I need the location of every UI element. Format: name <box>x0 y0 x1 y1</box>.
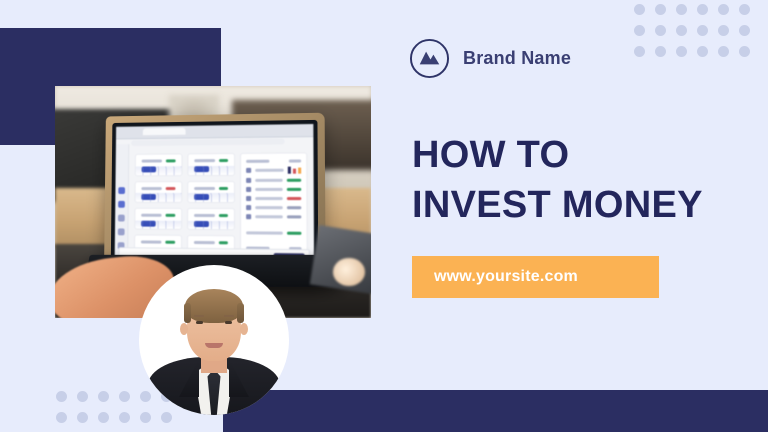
dot <box>634 46 645 57</box>
row-icon <box>247 178 252 183</box>
bar <box>293 168 296 173</box>
row-icon <box>247 196 252 201</box>
metric-card <box>135 153 182 175</box>
dot <box>739 4 750 15</box>
sparkline-chart <box>136 220 181 229</box>
avatar-ear <box>180 323 188 335</box>
dot <box>634 4 645 15</box>
metric-delta <box>166 186 175 189</box>
row-label <box>256 206 283 209</box>
dot <box>676 46 687 57</box>
metric-card-grid <box>134 153 235 258</box>
panel-divider <box>247 240 302 241</box>
total-value <box>287 231 301 234</box>
dot <box>697 25 708 36</box>
row-icon <box>247 214 252 219</box>
dot <box>119 412 130 423</box>
metric-label <box>142 213 163 216</box>
avatar-eyebrow <box>194 315 204 317</box>
metric-label <box>194 213 215 216</box>
dot <box>718 4 729 15</box>
sidebar-icon <box>119 187 126 194</box>
total-label <box>247 231 284 234</box>
panel-total-row <box>247 231 302 234</box>
dot <box>655 25 666 36</box>
avatar-ear <box>240 323 248 335</box>
metric-delta <box>219 213 228 216</box>
panel-row <box>247 196 302 201</box>
dashboard-side-panel <box>241 152 308 259</box>
panel-title <box>247 159 270 162</box>
dot <box>655 46 666 57</box>
panel-row <box>247 177 302 182</box>
dot <box>697 46 708 57</box>
dot <box>676 4 687 15</box>
metric-delta <box>219 241 228 244</box>
browser-tab <box>143 127 185 134</box>
metric-card <box>135 180 182 202</box>
panel-row <box>247 205 302 210</box>
row-icon <box>247 205 252 210</box>
metric-card <box>187 207 235 230</box>
dot <box>697 4 708 15</box>
metric-delta <box>167 159 176 162</box>
metric-label <box>194 241 215 244</box>
row-value <box>287 188 301 191</box>
dot <box>739 25 750 36</box>
desk-cup <box>333 258 365 286</box>
row-value <box>287 197 301 200</box>
dot <box>56 412 67 423</box>
sparkline-chart <box>188 220 234 229</box>
metric-label <box>194 159 215 162</box>
sparkline-chart <box>136 166 181 175</box>
row-value <box>287 215 301 218</box>
row-icon <box>247 187 252 192</box>
panel-row <box>247 214 302 219</box>
headline-line-2: INVEST MONEY <box>412 180 742 230</box>
avatar-eye <box>225 321 232 324</box>
metric-card <box>187 153 235 176</box>
navy-bar-bottom-right <box>223 390 768 432</box>
browser-url-bar <box>132 138 285 146</box>
row-value <box>287 206 301 209</box>
mountain-circle-icon <box>409 38 450 79</box>
metric-label <box>141 240 162 243</box>
row-label <box>256 188 283 191</box>
page-title: HOW TO INVEST MONEY <box>412 130 742 230</box>
avatar-mouth <box>205 343 223 348</box>
metric-label <box>142 159 163 162</box>
dot-grid-top-right <box>634 4 750 57</box>
metric-delta <box>166 213 175 216</box>
sidebar-icon <box>119 214 126 221</box>
headline-line-1: HOW TO <box>412 134 569 176</box>
bar <box>288 166 291 173</box>
dot <box>739 46 750 57</box>
dashboard-main <box>129 142 315 265</box>
metric-delta <box>166 240 175 243</box>
metric-card <box>135 207 183 229</box>
dot <box>77 412 88 423</box>
laptop-screen <box>111 119 319 269</box>
dot <box>718 25 729 36</box>
dashboard-ui <box>115 124 314 265</box>
bar <box>298 167 301 173</box>
panel-row <box>247 187 302 192</box>
dot <box>676 25 687 36</box>
metric-card <box>187 180 235 202</box>
row-label <box>256 197 283 200</box>
dot <box>77 391 88 402</box>
avatar-eyebrow <box>224 315 234 317</box>
browser-topbar <box>117 124 314 139</box>
panel-filter <box>289 159 301 162</box>
brand-name: Brand Name <box>463 48 571 69</box>
dot <box>655 4 666 15</box>
panel-header <box>247 159 302 162</box>
row-label <box>256 215 283 218</box>
metric-label <box>194 186 215 189</box>
dot <box>98 391 109 402</box>
brand: Brand Name <box>409 38 571 79</box>
metric-delta <box>219 159 228 162</box>
metric-label <box>142 186 163 189</box>
avatar-eye <box>196 321 203 324</box>
row-label <box>256 179 283 182</box>
dot <box>56 391 67 402</box>
row-value <box>287 178 301 181</box>
dot <box>119 391 130 402</box>
sparkline-chart <box>136 193 181 201</box>
panel-row <box>247 166 302 173</box>
dot <box>634 25 645 36</box>
website-cta-button[interactable]: www.yoursite.com <box>412 256 659 298</box>
sidebar-icon <box>119 200 126 207</box>
row-label <box>256 168 284 171</box>
sparkline-chart <box>188 193 234 202</box>
metric-delta <box>219 186 228 189</box>
avatar <box>139 265 289 415</box>
mini-bar-chart <box>288 166 301 173</box>
row-icon <box>247 168 252 173</box>
dot <box>98 412 109 423</box>
avatar-hair <box>185 289 243 323</box>
sparkline-chart <box>188 165 234 174</box>
dot <box>718 46 729 57</box>
sidebar-icon <box>118 228 125 235</box>
